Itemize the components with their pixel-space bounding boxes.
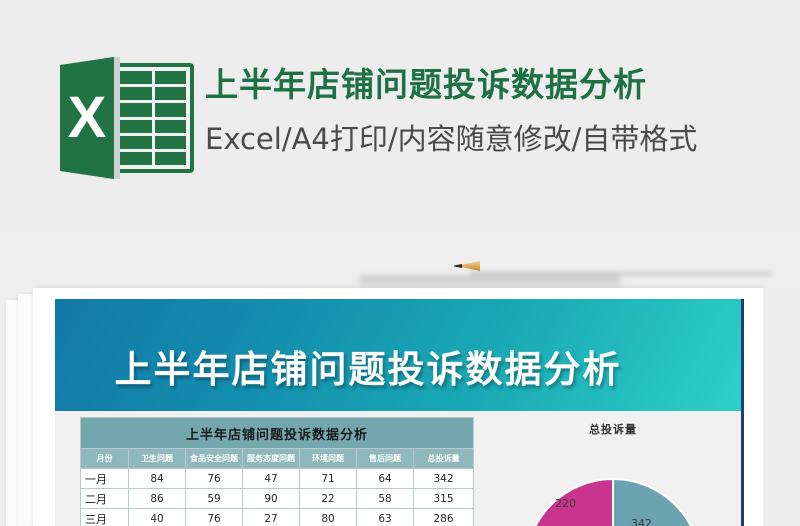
cell-aftersales: 58 <box>357 489 414 509</box>
col-header-service: 服务态度问题 <box>243 449 300 469</box>
document-banner: 上半年店铺问题投诉数据分析 <box>55 299 741 411</box>
col-header-environment: 环境问题 <box>300 449 357 469</box>
pencil-tip <box>454 264 462 268</box>
cell-aftersales: 63 <box>357 509 414 526</box>
cell-food-safety: 76 <box>186 509 243 526</box>
pie-chart-panel: 总投诉量 342 220 <box>485 411 741 526</box>
promo-subtitle: Excel/A4打印/内容随意修改/自带格式 <box>205 118 785 160</box>
cell-month: 一月 <box>81 469 129 489</box>
col-header-hygiene: 卫生问题 <box>129 449 186 469</box>
promo-title: 上半年店铺问题投诉数据分析 <box>205 62 785 108</box>
cell-month: 三月 <box>81 509 129 526</box>
cell-food-safety: 76 <box>186 469 243 489</box>
cell-service: 27 <box>243 509 300 526</box>
cell-aftersales: 64 <box>357 469 414 489</box>
table-header-row: 月份 卫生问题 食品安全问题 服务态度问题 环境问题 售后问题 总投诉量 <box>81 449 474 469</box>
excel-grid-icon <box>120 71 186 165</box>
pie-chart-svg <box>523 477 703 526</box>
col-header-total: 总投诉量 <box>414 449 474 469</box>
data-table-container: 上半年店铺问题投诉数据分析 月份 卫生问题 食品安全问题 服务态度问题 环境问题… <box>80 417 470 526</box>
cell-service: 47 <box>243 469 300 489</box>
pie-label-342: 342 <box>631 517 652 526</box>
cell-food-safety: 59 <box>186 489 243 509</box>
document-content: 上半年店铺问题投诉数据分析 月份 卫生问题 食品安全问题 服务态度问题 环境问题… <box>55 411 741 526</box>
pencil-cone <box>460 261 480 271</box>
cell-environment: 71 <box>300 469 357 489</box>
pie-chart-title: 总投诉量 <box>485 421 741 437</box>
excel-letter-x: X <box>60 57 114 179</box>
cell-month: 二月 <box>81 489 129 509</box>
pie-chart: 342 220 <box>523 477 703 526</box>
col-header-food-safety: 食品安全问题 <box>186 449 243 469</box>
table-row: 一月 84 76 47 71 64 342 <box>81 469 474 489</box>
document-page: 上半年店铺问题投诉数据分析 上半年店铺问题投诉数据分析 <box>55 299 744 526</box>
table-title: 上半年店铺问题投诉数据分析 <box>81 418 474 449</box>
table-row: 三月 40 76 27 80 63 286 <box>81 509 474 526</box>
cell-environment: 80 <box>300 509 357 526</box>
cell-total: 315 <box>414 489 474 509</box>
col-header-aftersales: 售后问题 <box>357 449 414 469</box>
pie-slice-342 <box>613 479 701 526</box>
table-row: 二月 86 59 90 22 58 315 <box>81 489 474 509</box>
pencil-shaft <box>478 261 772 271</box>
table-title-row: 上半年店铺问题投诉数据分析 <box>81 418 474 449</box>
page-right-margin <box>763 288 800 526</box>
cell-hygiene: 40 <box>129 509 186 526</box>
pencil-icon <box>452 258 772 274</box>
cell-hygiene: 86 <box>129 489 186 509</box>
cell-total: 342 <box>414 469 474 489</box>
promo-band: X 上半年店铺问题投诉数据分析 Excel/A4打印/内容随意修改/自带格式 <box>0 0 800 232</box>
cell-service: 90 <box>243 489 300 509</box>
cell-hygiene: 84 <box>129 469 186 489</box>
col-header-month: 月份 <box>81 449 129 469</box>
table-body: 一月 84 76 47 71 64 342 二月 86 59 90 <box>81 469 474 526</box>
excel-logo-icon: X <box>60 57 200 179</box>
complaints-table: 上半年店铺问题投诉数据分析 月份 卫生问题 食品安全问题 服务态度问题 环境问题… <box>80 417 474 526</box>
pie-label-220: 220 <box>555 497 576 510</box>
promo-text-block: 上半年店铺问题投诉数据分析 Excel/A4打印/内容随意修改/自带格式 <box>205 62 785 160</box>
cell-environment: 22 <box>300 489 357 509</box>
document-banner-title: 上半年店铺问题投诉数据分析 <box>55 339 741 393</box>
cell-total: 286 <box>414 509 474 526</box>
document-preview[interactable]: 上半年店铺问题投诉数据分析 上半年店铺问题投诉数据分析 <box>33 288 763 526</box>
